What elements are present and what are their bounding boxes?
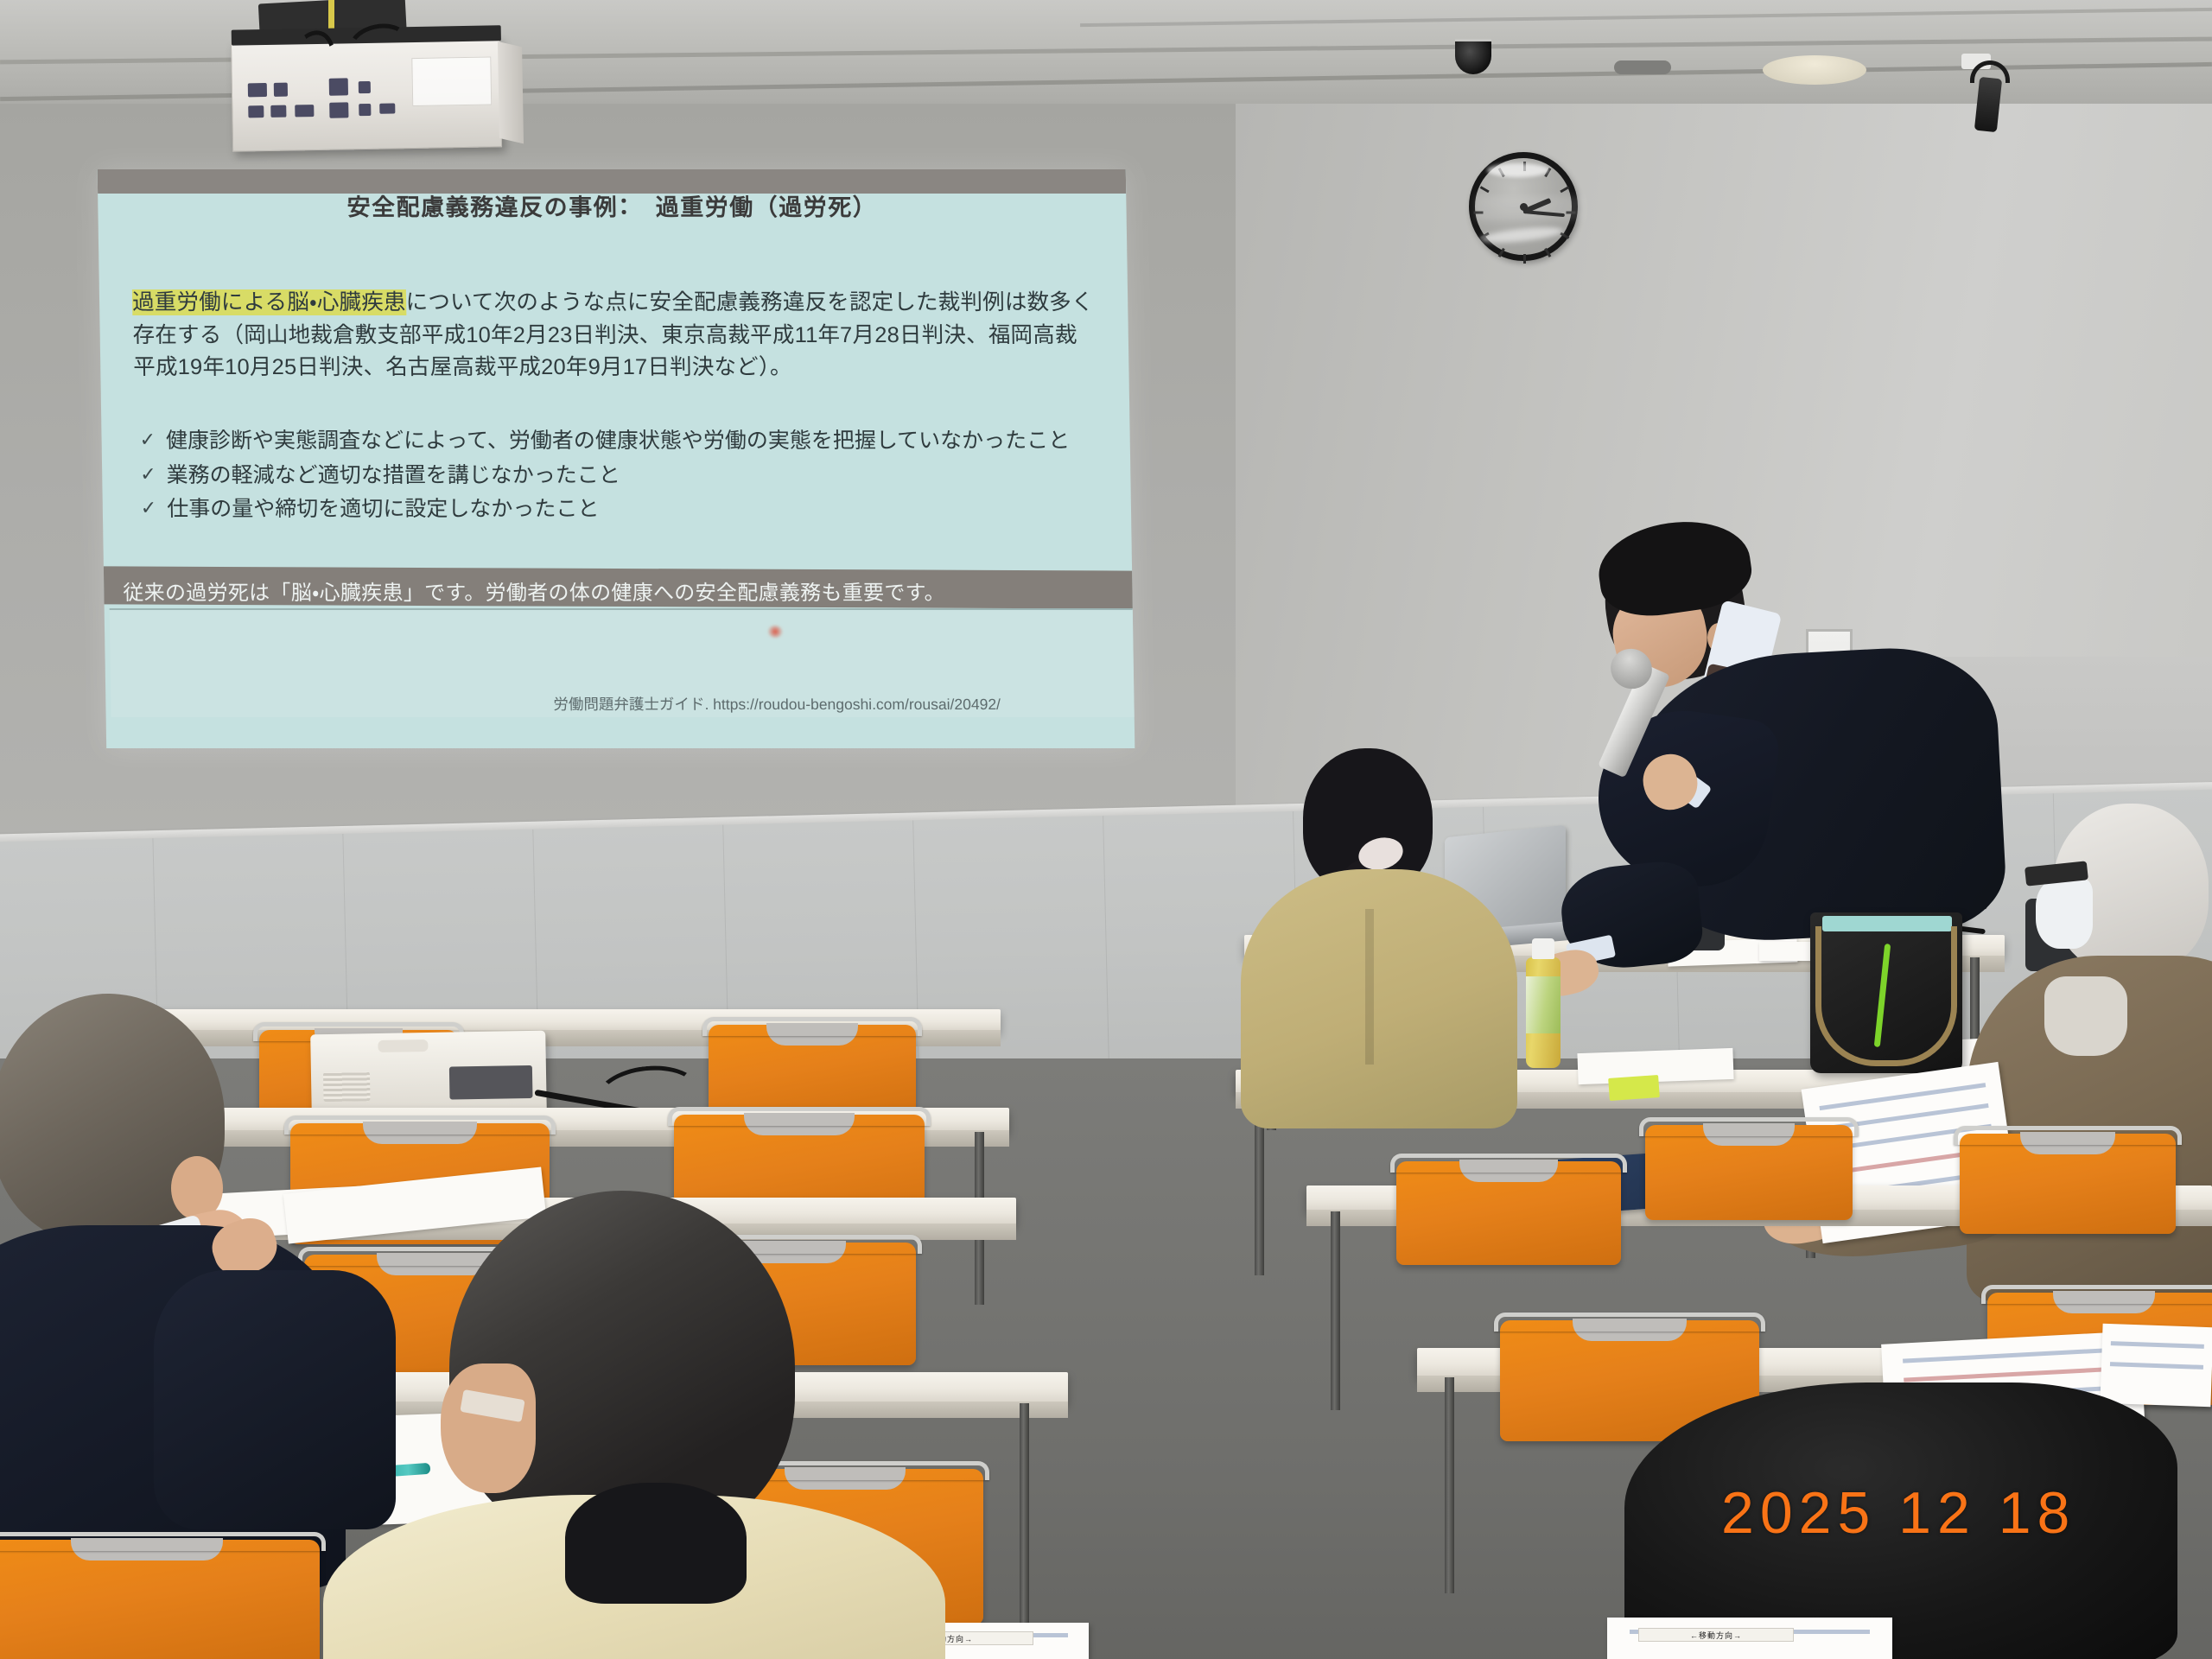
slide-title: 安全配慮義務違反の事例： 過重労働（過労死） xyxy=(98,188,1127,222)
list-item: ✓ 業務の軽減など適切な措置を講じなかったこと xyxy=(140,459,1100,490)
slide-paragraph: 過重労働による脳・心臓疾患について次のような点に安全配慮義務違反を認定した裁判例… xyxy=(132,287,1098,385)
chair[interactable] xyxy=(1960,1134,2176,1234)
attendee-beige-jacket xyxy=(1236,748,1521,1111)
slide-paragraph-highlight: 過重労働による脳・心臓疾患 xyxy=(132,289,406,315)
camera-date-stamp: 2025 12 18 xyxy=(1721,1479,2075,1547)
chair[interactable] xyxy=(0,1540,320,1659)
slide: 安全配慮義務違反の事例： 過重労働（過労死） 過重労働による脳・心臓疾患について… xyxy=(98,169,1135,748)
check-icon: ✓ xyxy=(139,425,156,456)
attendee-cream-vest xyxy=(406,1191,942,1659)
attendee-arm xyxy=(154,1270,396,1529)
wall-clock xyxy=(1469,152,1578,261)
slide-bullet-list: ✓ 健康診断や実態調査などによって、労働者の健康状態や労働の実態を把握していなか… xyxy=(139,425,1100,527)
handout-paper xyxy=(2100,1324,2212,1407)
list-item: ✓ 仕事の量や締切を適切に設定しなかったこと xyxy=(141,493,1101,524)
desk-label: ←移動方向→ xyxy=(1638,1628,1794,1642)
slide-summary-text: 従来の過労死は「脳・心臓疾患」です。労働者の体の健康への安全配慮義務も重要です。 xyxy=(123,575,1126,606)
seminar-room-photo: 安全配慮義務違反の事例： 過重労働（過労死） 過重労働による脳・心臓疾患について… xyxy=(0,0,2212,1659)
bullet-text: 仕事の量や締切を適切に設定しなかったこと xyxy=(167,493,600,524)
laser-pointer-dot xyxy=(768,626,782,638)
green-tea-bottle[interactable] xyxy=(1526,957,1560,1068)
sticky-note xyxy=(1608,1075,1660,1101)
list-item: ✓ 健康診断や実態調査などによって、労働者の健康状態や労働の実態を把握していなか… xyxy=(139,425,1099,456)
bullet-text: 健康診断や実態調査などによって、労働者の健康状態や労働の実態を把握していなかった… xyxy=(166,425,1071,456)
chair[interactable] xyxy=(1396,1161,1621,1265)
chair[interactable] xyxy=(1645,1125,1853,1220)
tote-bag[interactable] xyxy=(1810,912,1962,1073)
slide-source-citation: 労働問題弁護士ガイド. https://roudou-bengoshi.com/… xyxy=(553,693,1135,715)
power-cable xyxy=(328,0,334,29)
check-icon: ✓ xyxy=(141,493,157,524)
bullet-text: 業務の軽減など適切な措置を講じなかったこと xyxy=(166,459,620,490)
projection-screen: 安全配慮義務違反の事例： 過重労働（過労死） 過重労働による脳・心臓疾患について… xyxy=(98,169,1135,748)
ceiling-vent xyxy=(1614,60,1671,74)
table-projector[interactable] xyxy=(310,1031,547,1118)
check-icon: ✓ xyxy=(140,459,156,490)
ceiling-speaker xyxy=(1763,55,1866,85)
